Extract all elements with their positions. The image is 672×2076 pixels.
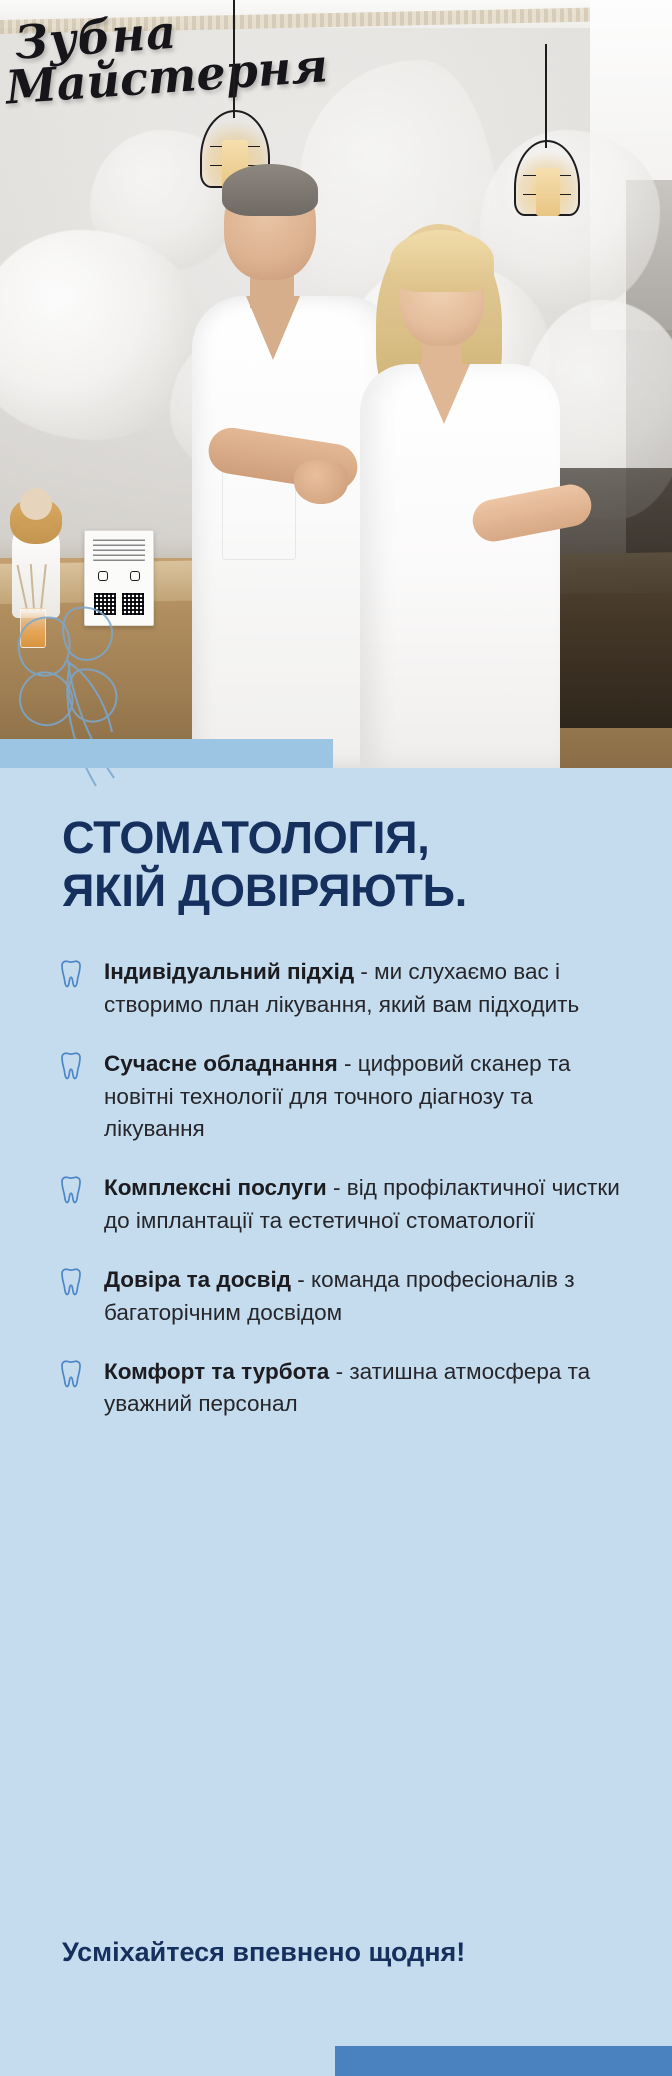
qr-code	[122, 593, 144, 615]
sign-logo-text	[93, 539, 145, 561]
reed-diffuser	[20, 608, 46, 648]
headline-line-1: СТОМАТОЛОГІЯ,	[62, 812, 430, 863]
instagram-icon	[130, 571, 140, 581]
list-item: Довіра та досвід - команда професіоналів…	[56, 1264, 636, 1330]
tooth-icon	[58, 1051, 84, 1081]
pendant-lamp-cord	[545, 44, 547, 148]
list-item: Сучасне обладнання - цифровий сканер та …	[56, 1048, 636, 1147]
dentist-woman	[352, 208, 562, 768]
woman-fringe	[390, 230, 494, 292]
accent-band-bottom	[335, 2046, 672, 2076]
qr-code	[94, 593, 116, 615]
telegram-icon	[98, 571, 108, 581]
benefits-list: Індивідуальний підхід - ми слухаємо вас …	[56, 956, 636, 1421]
headline-line-2: ЯКІЙ ДОВІРЯЮТЬ.	[62, 865, 642, 918]
list-item: Комфорт та турбота - затишна атмосфера т…	[56, 1356, 636, 1422]
list-item: Індивідуальний підхід - ми слухаємо вас …	[56, 956, 636, 1022]
page-title: СТОМАТОЛОГІЯ, ЯКІЙ ДОВІРЯЮТЬ.	[62, 812, 642, 917]
benefit-term: Індивідуальний підхід	[104, 959, 354, 984]
list-item: Комплексні послуги - від профілактичної …	[56, 1172, 636, 1238]
doll-head	[20, 488, 52, 520]
benefit-term: Сучасне обладнання	[104, 1051, 338, 1076]
content-panel: СТОМАТОЛОГІЯ, ЯКІЙ ДОВІРЯЮТЬ. Індивідуал…	[0, 768, 672, 2076]
tooth-icon	[58, 1267, 84, 1297]
clinic-info-sign	[84, 530, 154, 626]
benefit-term: Довіра та досвід	[104, 1267, 291, 1292]
hero-photo-section: Зубна Майстерня	[0, 0, 672, 768]
closing-tagline: Усміхайтеся впевнено щодня!	[62, 1936, 662, 1970]
dental-clinic-poster: Зубна Майстерня	[0, 0, 672, 2076]
man-hair	[222, 164, 318, 216]
tooth-icon	[58, 959, 84, 989]
benefit-term: Комплексні послуги	[104, 1175, 327, 1200]
benefit-term: Комфорт та турбота	[104, 1359, 329, 1384]
pendant-lamp-cord	[233, 0, 235, 118]
decorative-doll	[6, 488, 66, 618]
man-hand	[294, 460, 348, 504]
tooth-icon	[58, 1359, 84, 1389]
accent-band-top	[0, 739, 333, 768]
tooth-icon	[58, 1175, 84, 1205]
woman-uniform	[360, 364, 560, 768]
